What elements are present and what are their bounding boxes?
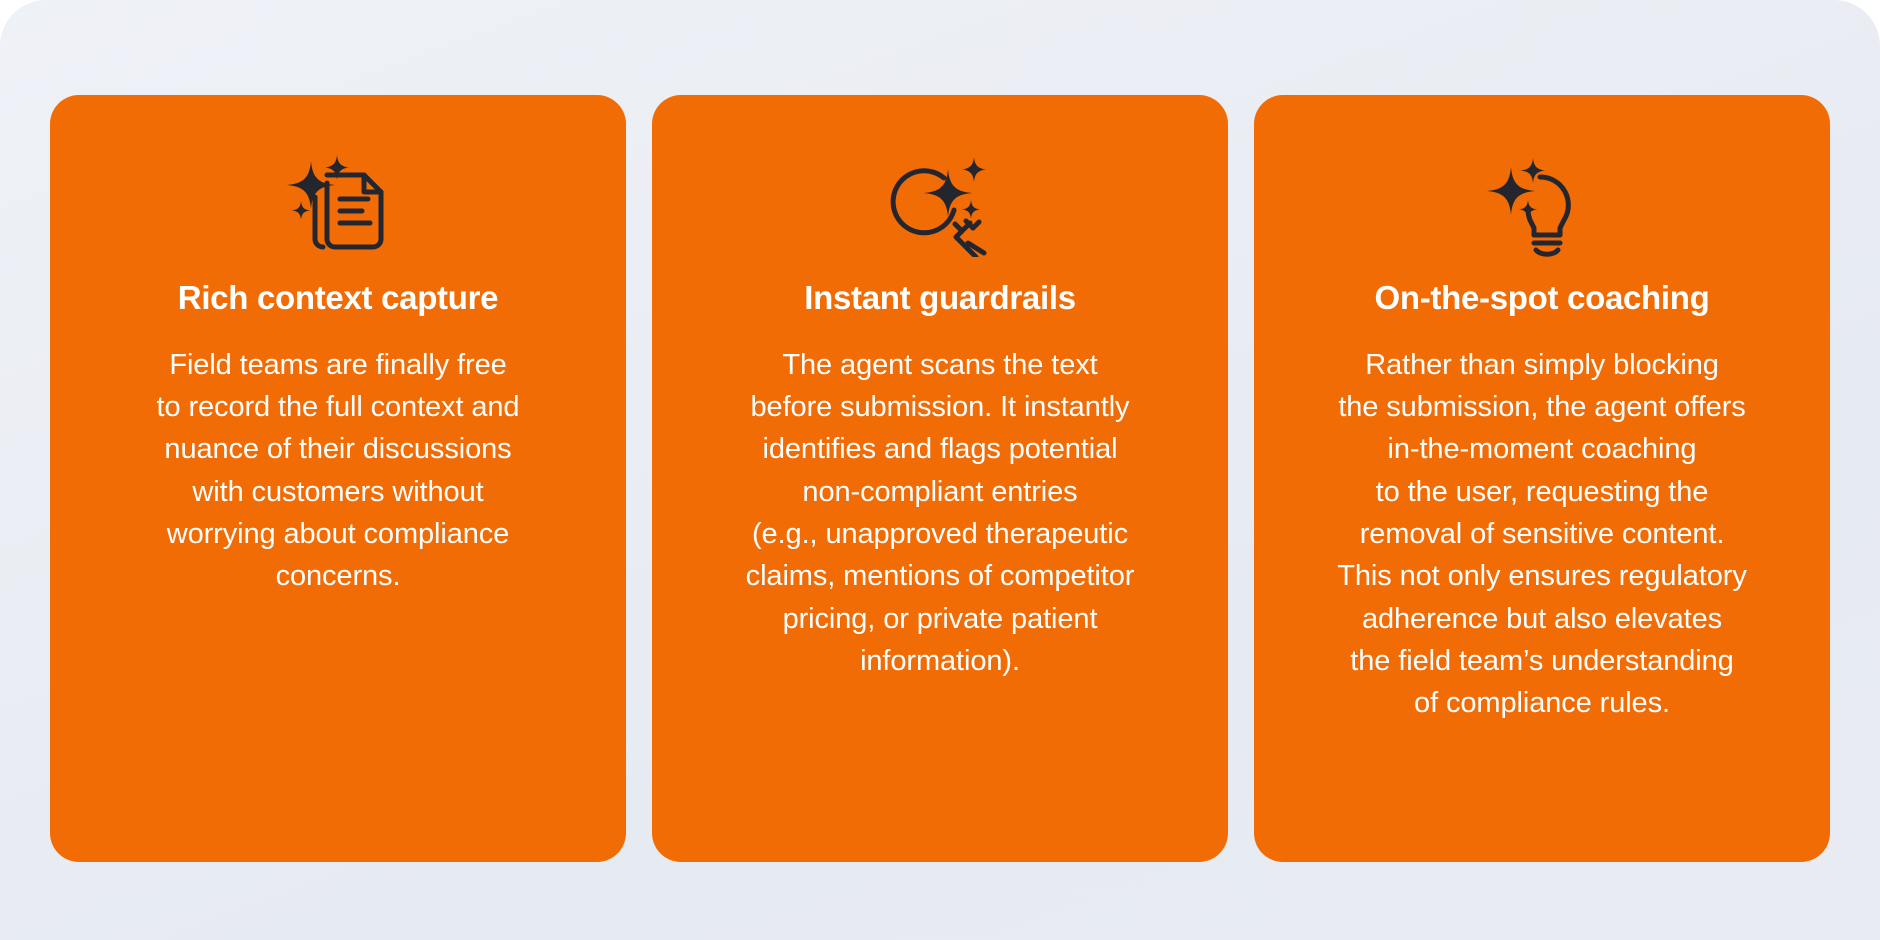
body-line: adherence but also elevates — [1337, 598, 1746, 640]
body-line: nuance of their discussions — [157, 428, 520, 470]
body-line: in-the-moment coaching — [1337, 428, 1746, 470]
lightbulb-sparkle-icon — [1482, 150, 1602, 260]
body-line: information). — [746, 640, 1135, 682]
body-line: This not only ensures regulatory — [1337, 555, 1746, 597]
body-line: identifies and flags potential — [746, 428, 1135, 470]
feature-card-title: On-the-spot coaching — [1375, 278, 1710, 318]
feature-card-on-the-spot-coaching[interactable]: On-the-spot coaching Rather than simply … — [1254, 95, 1830, 862]
feature-card-body: Field teams are finally free to record t… — [157, 344, 520, 598]
body-line: to record the full context and — [157, 386, 520, 428]
body-line: before submission. It instantly — [746, 386, 1135, 428]
body-line: pricing, or private patient — [746, 598, 1135, 640]
body-line: Field teams are finally free — [157, 344, 520, 386]
body-line: non-compliant entries — [746, 471, 1135, 513]
feature-card-body: The agent scans the text before submissi… — [746, 344, 1135, 683]
magnifier-sparkle-icon — [880, 150, 1000, 260]
feature-card-title: Rich context capture — [178, 278, 498, 318]
body-line: (e.g., unapproved therapeutic — [746, 513, 1135, 555]
feature-card-title: Instant guardrails — [804, 278, 1076, 318]
feature-card-row: Rich context capture Field teams are fin… — [50, 95, 1830, 862]
body-line: the field team’s understanding — [1337, 640, 1746, 682]
body-line: worrying about compliance — [157, 513, 520, 555]
body-line: claims, mentions of competitor — [746, 555, 1135, 597]
feature-card-rich-context-capture[interactable]: Rich context capture Field teams are fin… — [50, 95, 626, 862]
body-line: removal of sensitive content. — [1337, 513, 1746, 555]
body-line: concerns. — [157, 555, 520, 597]
body-line: the submission, the agent offers — [1337, 386, 1746, 428]
body-line: Rather than simply blocking — [1337, 344, 1746, 386]
feature-card-instant-guardrails[interactable]: Instant guardrails The agent scans the t… — [652, 95, 1228, 862]
body-line: of compliance rules. — [1337, 682, 1746, 724]
screenshot-root: Rich context capture Field teams are fin… — [0, 0, 1880, 940]
body-line: to the user, requesting the — [1337, 471, 1746, 513]
feature-card-body: Rather than simply blocking the submissi… — [1337, 344, 1746, 725]
document-sparkle-icon — [278, 150, 398, 260]
body-line: The agent scans the text — [746, 344, 1135, 386]
body-line: with customers without — [157, 471, 520, 513]
